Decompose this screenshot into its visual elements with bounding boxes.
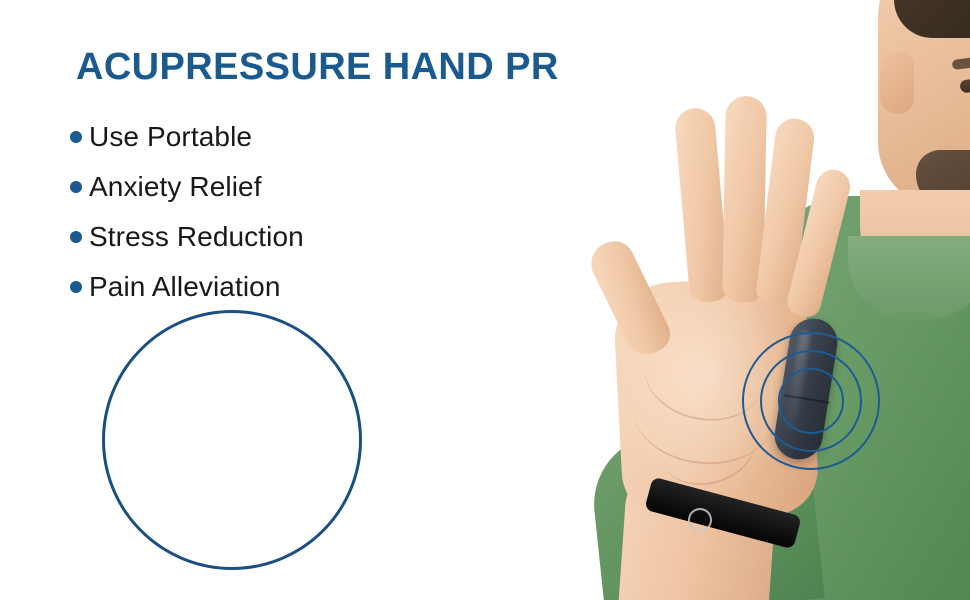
bullet-dot-icon xyxy=(70,281,82,293)
list-item: Use Portable xyxy=(70,112,490,162)
product-banner: ACUPRESSURE HAND PRESSURE Use Portable A… xyxy=(0,0,970,600)
list-item: Anxiety Relief xyxy=(70,162,490,212)
list-item: Pain Alleviation xyxy=(70,262,490,312)
list-item: Stress Reduction xyxy=(70,212,490,262)
bullet-dot-icon xyxy=(70,231,82,243)
inset-circle-border xyxy=(102,310,362,570)
ear xyxy=(880,52,914,114)
benefit-label: Use Portable xyxy=(89,121,252,153)
benefits-list: Use Portable Anxiety Relief Stress Reduc… xyxy=(70,112,490,312)
bullet-dot-icon xyxy=(70,131,82,143)
benefit-label: Pain Alleviation xyxy=(89,271,281,303)
benefit-label: Stress Reduction xyxy=(89,221,304,253)
benefit-label: Anxiety Relief xyxy=(89,171,262,203)
main-photo xyxy=(560,0,970,600)
bullet-dot-icon xyxy=(70,181,82,193)
